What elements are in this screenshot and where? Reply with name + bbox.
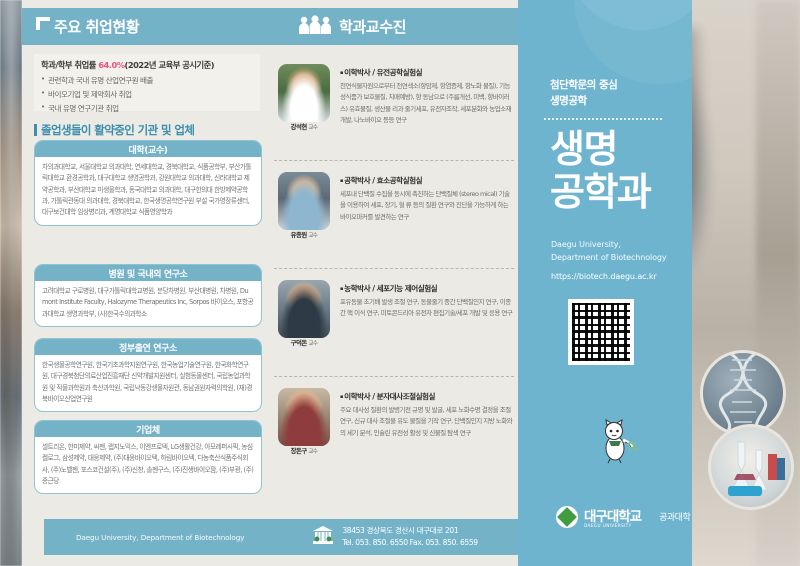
professor-description: 포유동물 초기배 발생 조절 연구, 동물줄기 중간 단백질인지 연구, 이종간… [340, 297, 515, 320]
professor-photo [278, 64, 330, 122]
organizations-card-hospitals: 병원 및 국내외 연구소 고려대학교 구로병원, 대구가톨릭대학교병원, 분당차… [34, 264, 262, 327]
lab-flask-photo [708, 424, 794, 510]
professor-name: 장돈구 교수 [278, 446, 330, 455]
footer-phone: Tel. 053. 850. 6550 Fax. 053. 850. 6559 [342, 537, 477, 549]
department-blue-panel: 첨단학문의 중심 생명공학 생명 공학과 Daegu University, D… [518, 0, 692, 566]
card-body: 셀트리온, 한미제약, 씨젠, 랩지노믹스, 이엔프로텍, LG생활건강, 아모… [35, 437, 261, 493]
employment-rate-suffix: (2022년 교육부 공시기준) [125, 60, 215, 70]
tagline-line-2: 생명공학 [550, 94, 617, 110]
graduates-subtitle: 졸업생들이 활약중인 기관 및 업체 [34, 122, 194, 138]
professor-entry: 구덕돈 교수 농학박사 / 세포기능 제어실험실 포유동물 초기배 발생 조절 … [274, 272, 514, 376]
organizations-card-companies: 기업체 셀트리온, 한미제약, 씨젠, 랩지노믹스, 이엔프로텍, LG생활건강… [34, 420, 262, 494]
card-title: 병원 및 국내외 연구소 [35, 265, 261, 281]
professor-description: 주요 대사성 질환의 발병기전 규명 및 발굴, 세포 노화수명 결정을 조절 … [340, 405, 515, 439]
professor-description: 세포내 단백질 수집을 동시에 촉진하는 단백질체 (stereo mical)… [340, 189, 515, 223]
card-body: 고려대학교 구로병원, 대구가톨릭대학교병원, 분당차병원, 부산대병원, 차병… [35, 281, 261, 326]
tagline-line-1: 첨단학문의 중심 [550, 78, 617, 94]
professor-entry: 강석현 교수 이학박사 / 유전공학실험실 천연식물자원으로부터 천연색소(항암… [274, 56, 514, 160]
qr-code-pattern [572, 303, 630, 361]
employment-bullet: 국내 유명 연구기관 취업 [41, 103, 253, 114]
professor-entry: 유종원 교수 공학박사 / 효소공학실험실 세포내 단백질 수집을 동시에 촉진… [274, 164, 514, 268]
professor-title: 농학박사 / 세포기능 제어실험실 [340, 283, 512, 294]
professor-title: 공학박사 / 효소공학실험실 [340, 175, 512, 186]
english-line-1: Daegu University, [551, 238, 692, 251]
employment-rate-prefix: 학과/학부 취업률 [41, 60, 98, 70]
footer-address: 38453 경상북도 경산시 대구대로 201 [342, 525, 477, 537]
divider [274, 160, 514, 161]
brochure-canvas: 주요 취업현황 학과교수진 학과/학부 취업률 64.0%(2022년 교육부 … [22, 0, 800, 566]
footer-department-name: Daegu University, Department of Biotechn… [76, 533, 244, 542]
people-group-icon [298, 15, 332, 39]
professor-photo [278, 388, 330, 446]
department-title: 생명 공학과 [550, 128, 690, 213]
footer-contact-info: 38453 경상북도 경산시 대구대로 201 Tel. 053. 850. 6… [342, 525, 477, 549]
building-icon [312, 524, 334, 550]
university-logo: 대구대학교 DAEGU UNIVERSITY 공과대학 [556, 505, 690, 528]
qr-code[interactable] [568, 299, 634, 365]
faculty-section-header: 학과교수진 [270, 8, 518, 45]
card-title: 대학(교수) [35, 141, 261, 157]
professor-photo [278, 172, 330, 230]
department-english-name: Daegu University, Department of Biotechn… [551, 238, 692, 264]
college-name: 공과대학 [659, 510, 690, 523]
brochure-page: 주요 취업현황 학과교수진 학과/학부 취업률 64.0%(2022년 교육부 … [0, 0, 800, 566]
faculty-header-title: 학과교수진 [339, 16, 406, 37]
employment-rate-value: 64.0% [98, 60, 124, 70]
divider [274, 268, 514, 269]
employment-section-header: 주요 취업현황 [22, 8, 270, 45]
department-title-line-2: 공학과 [550, 171, 690, 214]
professor-name: 유종원 교수 [278, 230, 330, 239]
card-body: 차의과대학교, 서울대학교 의과대학, 연세대학교, 경북대학교, 식품공학부,… [35, 157, 261, 225]
dna-helix-photo [700, 350, 786, 436]
english-line-2: Department of Biotechnology [551, 251, 692, 264]
mascot-icon [598, 418, 644, 468]
university-emblem-icon [556, 506, 578, 528]
employment-bullet: 바이오기업 및 제약회사 취업 [41, 89, 253, 100]
employment-stats-box: 학과/학부 취업률 64.0%(2022년 교육부 공시기준) 관련학과 국내 … [34, 54, 260, 111]
professor-photo [278, 280, 330, 338]
left-photo-strip [0, 0, 22, 566]
page-footer: Daegu University, Department of Biotechn… [44, 519, 518, 555]
professor-title: 이학박사 / 유전공학실험실 [340, 67, 512, 78]
website-url[interactable]: https://biotech.daegu.ac.kr [551, 272, 657, 281]
organizations-card-gov-research: 정부출연 연구소 한국생물공학연구원, 한국기초과학지원연구원, 한국농업기술연… [34, 338, 262, 412]
department-title-line-1: 생명 [550, 128, 690, 171]
organizations-card-universities: 대학(교수) 차의과대학교, 서울대학교 의과대학, 연세대학교, 경북대학교,… [34, 140, 262, 226]
card-title: 기업체 [35, 421, 261, 437]
employment-bullet: 관련학과 국내 유명 산업연구원 배출 [41, 75, 253, 86]
corner-bracket-icon [36, 17, 50, 30]
divider [274, 376, 514, 377]
professor-title: 이학박사 / 분자대사조절실험실 [340, 391, 512, 402]
professor-description: 천연식물자원으로부터 천연색소(항암제, 항염증제, 항노화 물질), 기능성식… [340, 81, 515, 127]
professor-entry: 장돈구 교수 이학박사 / 분자대사조절실험실 주요 대사성 질환의 발병기전 … [274, 380, 514, 484]
dotted-divider [544, 118, 662, 120]
card-title: 정부출연 연구소 [35, 339, 261, 355]
employment-header-title: 주요 취업현황 [54, 16, 139, 37]
department-tagline: 첨단학문의 중심 생명공학 [550, 78, 617, 110]
professor-name: 강석현 교수 [278, 122, 330, 131]
card-body: 한국생물공학연구원, 한국기초과학지원연구원, 한국농업기술연구원, 한국화학연… [35, 355, 261, 411]
employment-rate-line: 학과/학부 취업률 64.0%(2022년 교육부 공시기준) [41, 59, 253, 71]
professor-name: 구덕돈 교수 [278, 338, 330, 347]
